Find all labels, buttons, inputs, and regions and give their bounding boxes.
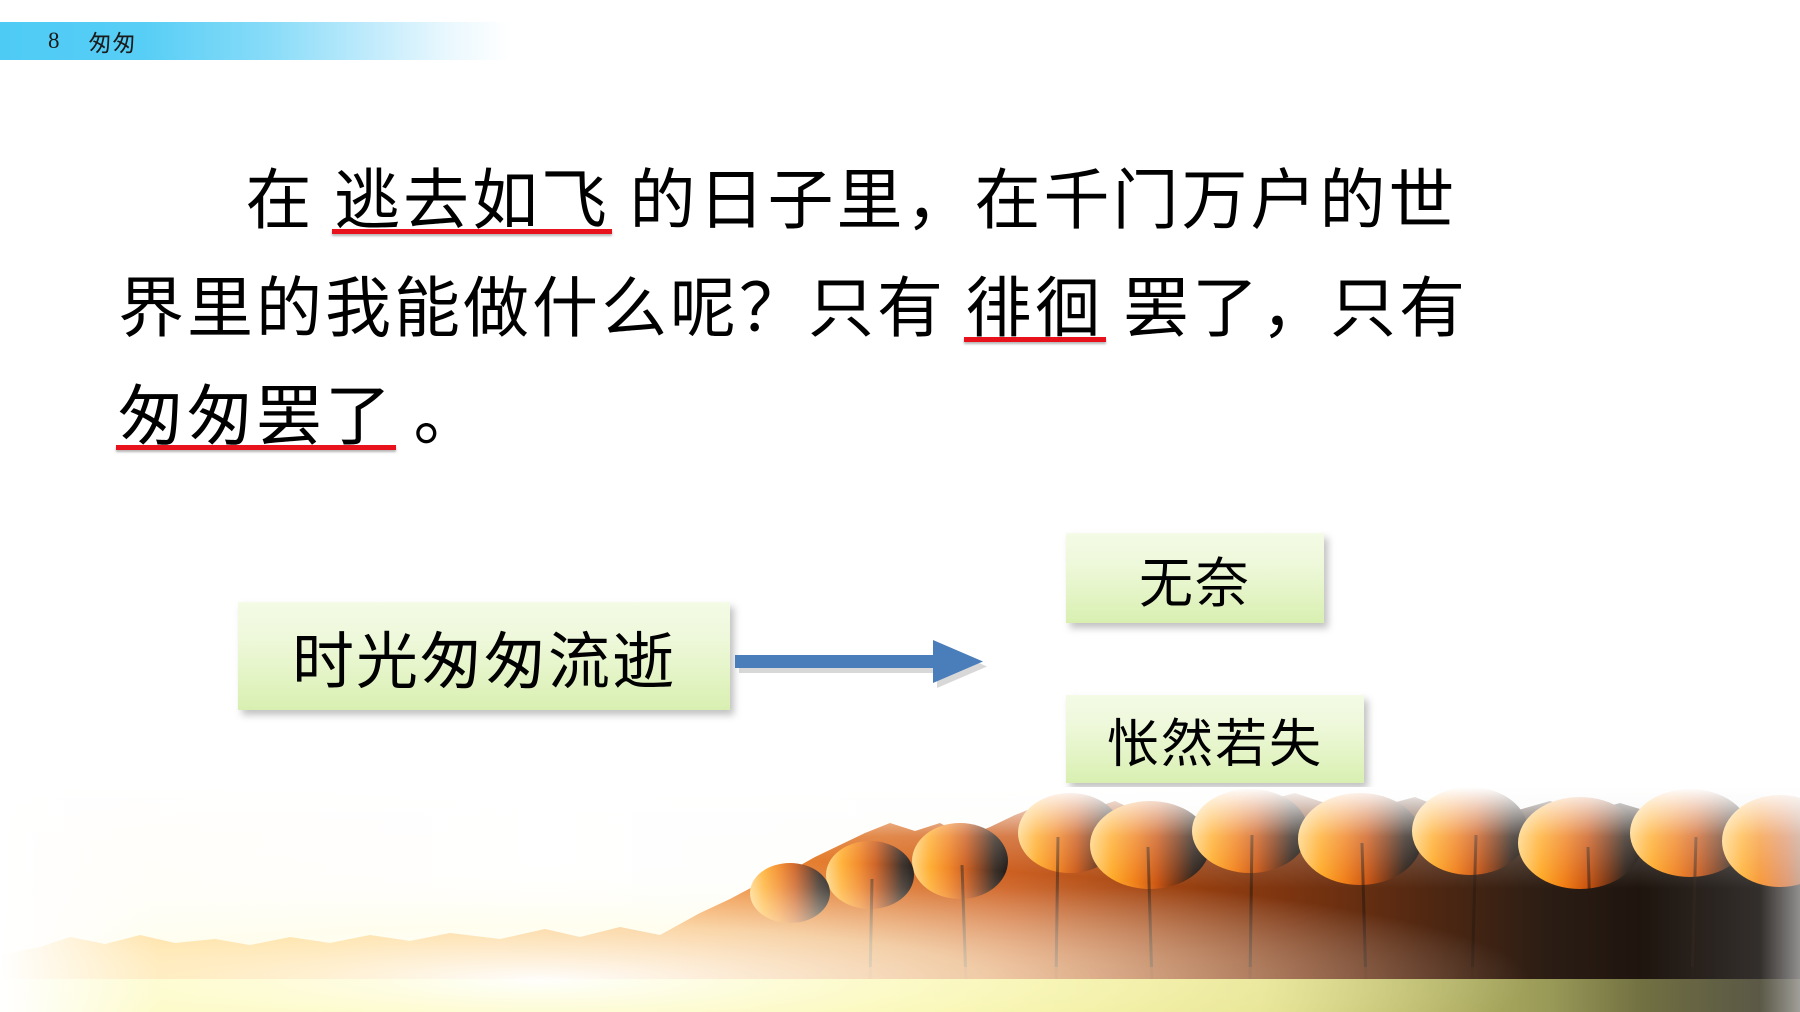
header: 8 匆匆 bbox=[0, 22, 137, 60]
cause-box-label: 时光匆匆流逝 bbox=[292, 611, 676, 701]
text-segment-underlined: 徘徊 bbox=[966, 273, 1104, 346]
text-segment: 界里的我能做什么呢？只有 bbox=[118, 273, 946, 346]
slide-canvas: 8 匆匆 在 逃去如飞 的日子里，在千门万户的世 界里的我能做什么呢？只有 徘徊… bbox=[0, 0, 1800, 1012]
text-segment-underlined: 逃去如飞 bbox=[334, 165, 610, 238]
text-segment: 的日子里，在千门万户的世 bbox=[630, 165, 1458, 238]
right-arrow-icon bbox=[735, 628, 1015, 698]
cause-box: 时光匆匆流逝 bbox=[238, 602, 730, 710]
text-segment-underlined: 匆匆罢了 bbox=[118, 381, 394, 454]
paragraph-line-1: 在 逃去如飞 的日子里，在千门万户的世 bbox=[118, 148, 1678, 256]
text-segment: 。 bbox=[414, 381, 483, 454]
text-segment: 罢了，只有 bbox=[1123, 273, 1468, 346]
lesson-title: 匆匆 bbox=[89, 24, 137, 58]
paragraph-line-2: 界里的我能做什么呢？只有 徘徊 罢了，只有 bbox=[118, 256, 1678, 364]
paragraph-line-3: 匆匆罢了 。 bbox=[118, 364, 1678, 472]
autumn-landscape-photo bbox=[0, 787, 1800, 1012]
effect-box-2: 怅然若失 bbox=[1066, 695, 1364, 783]
body-paragraph: 在 逃去如飞 的日子里，在千门万户的世 界里的我能做什么呢？只有 徘徊 罢了，只… bbox=[118, 148, 1678, 472]
effect-box-2-label: 怅然若失 bbox=[1107, 702, 1323, 777]
text-segment: 在 bbox=[246, 165, 315, 238]
effect-box-1: 无奈 bbox=[1066, 533, 1324, 623]
effect-box-1-label: 无奈 bbox=[1139, 539, 1251, 618]
lesson-number: 8 bbox=[48, 28, 61, 54]
